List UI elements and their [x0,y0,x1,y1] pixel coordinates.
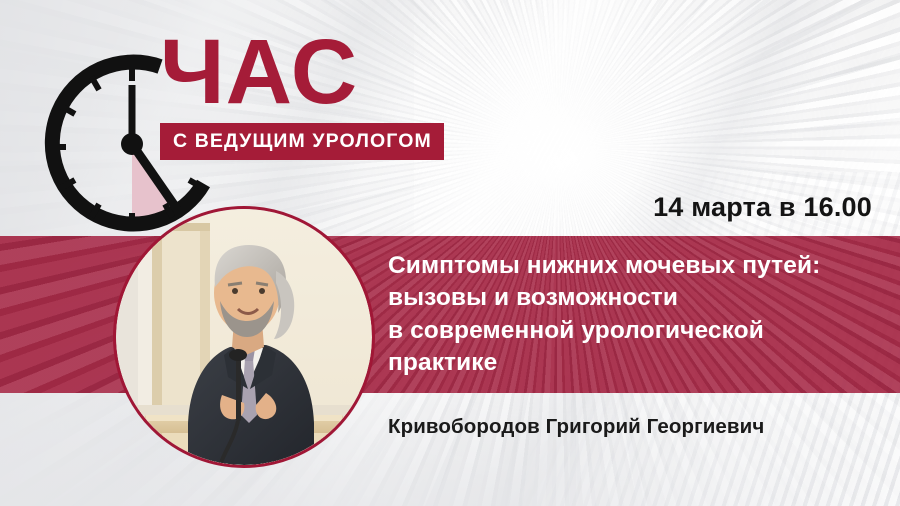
event-title-line-4: практике [388,347,820,379]
speaker-name: Кривобородов Григорий Георгиевич [388,415,764,439]
logo-title: ЧАС [160,29,444,116]
event-title-line-1: Симптомы нижних мочевых путей: [388,250,820,282]
event-title-line-2: вызовы и возможности [388,282,820,314]
event-title: Симптомы нижних мочевых путей: вызовы и … [388,250,820,379]
speaker-portrait [113,206,375,468]
event-title-line-3: в современной урологической [388,315,820,347]
event-date: 14 марта в 16.00 [653,192,872,223]
logo-wordmark: ЧАС С ВЕДУЩИМ УРОЛОГОМ [160,29,444,160]
logo-subtitle: С ВЕДУЩИМ УРОЛОГОМ [160,123,444,160]
webinar-announcement-poster: ЧАС С ВЕДУЩИМ УРОЛОГОМ 14 марта в 16.00 … [0,0,900,506]
speaker-portrait-image [116,209,372,465]
